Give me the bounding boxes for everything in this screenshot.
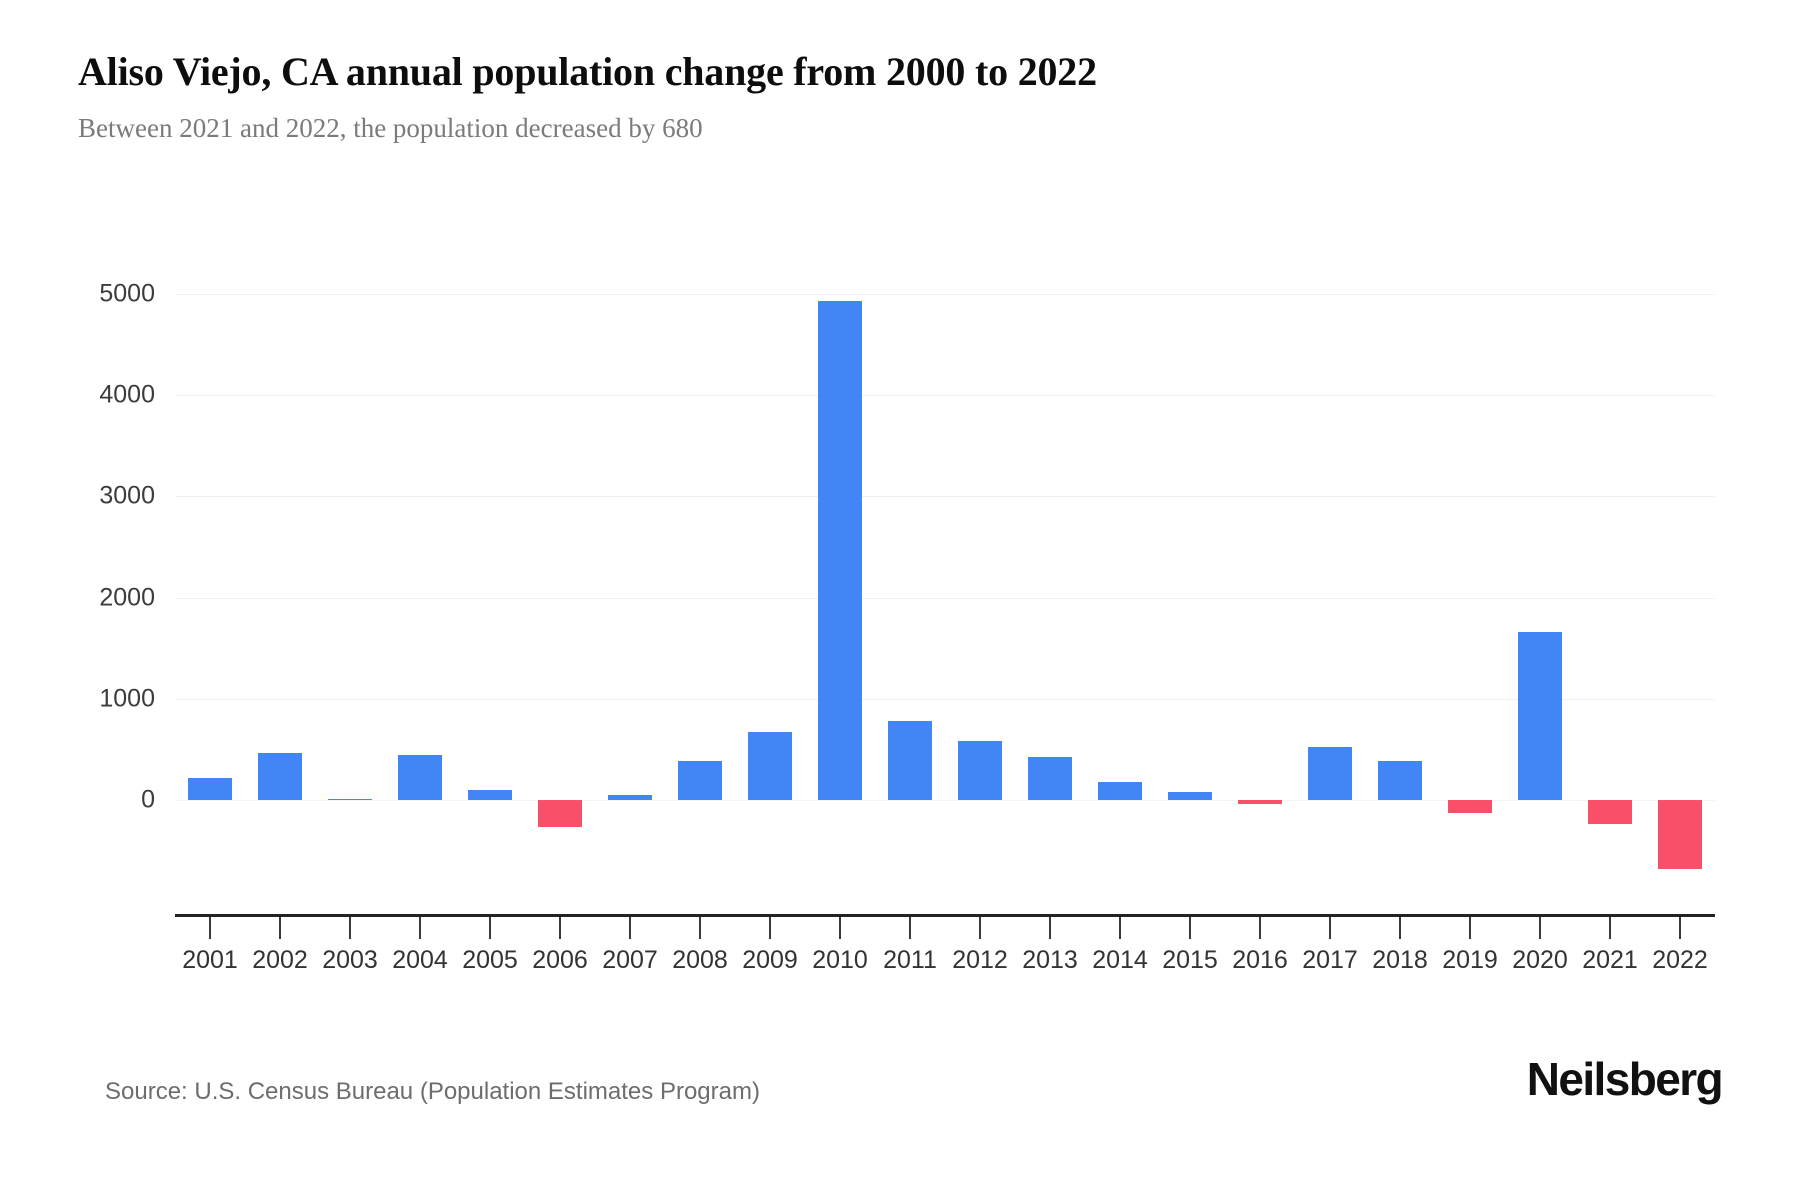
x-tick-2003	[349, 917, 351, 939]
bar-2022[interactable]	[1658, 800, 1703, 869]
x-tick-2011	[909, 917, 911, 939]
x-tick-2022	[1679, 917, 1681, 939]
x-tick-label-2019: 2019	[1442, 946, 1498, 975]
x-tick-2020	[1539, 917, 1541, 939]
x-tick-2016	[1259, 917, 1261, 939]
x-tick-2010	[839, 917, 841, 939]
gridline-0	[175, 800, 1715, 801]
x-tick-label-2014: 2014	[1092, 946, 1148, 975]
x-tick-label-2005: 2005	[462, 946, 518, 975]
x-tick-2001	[209, 917, 211, 939]
chart-page: Aliso Viejo, CA annual population change…	[0, 0, 1800, 1200]
x-tick-label-2013: 2013	[1022, 946, 1078, 975]
bar-2019[interactable]	[1448, 800, 1493, 813]
plot-area: 010002000300040005000 200120022003200420…	[0, 0, 1800, 1200]
x-tick-label-2016: 2016	[1232, 946, 1288, 975]
x-axis-line	[175, 914, 1715, 917]
x-tick-2019	[1469, 917, 1471, 939]
x-tick-2013	[1049, 917, 1051, 939]
x-tick-2021	[1609, 917, 1611, 939]
x-tick-2004	[419, 917, 421, 939]
y-tick-label-3000: 3000	[35, 482, 155, 511]
gridline-5000	[175, 294, 1715, 295]
bar-2006[interactable]	[538, 800, 583, 827]
x-tick-2018	[1399, 917, 1401, 939]
gridline-4000	[175, 395, 1715, 396]
x-tick-label-2021: 2021	[1582, 946, 1638, 975]
x-tick-2005	[489, 917, 491, 939]
x-tick-2008	[699, 917, 701, 939]
x-tick-label-2022: 2022	[1652, 946, 1708, 975]
x-tick-label-2017: 2017	[1302, 946, 1358, 975]
x-tick-label-2015: 2015	[1162, 946, 1218, 975]
source-note: Source: U.S. Census Bureau (Population E…	[105, 1078, 760, 1106]
x-tick-label-2018: 2018	[1372, 946, 1428, 975]
x-tick-label-2009: 2009	[742, 946, 798, 975]
x-tick-2017	[1329, 917, 1331, 939]
x-tick-label-2012: 2012	[952, 946, 1008, 975]
x-tick-label-2010: 2010	[812, 946, 868, 975]
x-tick-label-2001: 2001	[182, 946, 238, 975]
x-tick-label-2008: 2008	[672, 946, 728, 975]
y-tick-label-4000: 4000	[35, 381, 155, 410]
gridline-3000	[175, 496, 1715, 497]
brand-logo: Neilsberg	[1527, 1052, 1722, 1106]
x-tick-label-2007: 2007	[602, 946, 658, 975]
x-tick-2009	[769, 917, 771, 939]
y-tick-label-1000: 1000	[35, 684, 155, 713]
gridline-1000	[175, 699, 1715, 700]
gridlines	[175, 294, 1715, 800]
bar-2021[interactable]	[1588, 800, 1633, 824]
x-tick-2006	[559, 917, 561, 939]
x-tick-label-2004: 2004	[392, 946, 448, 975]
x-tick-2015	[1189, 917, 1191, 939]
x-tick-label-2002: 2002	[252, 946, 308, 975]
x-tick-2007	[629, 917, 631, 939]
y-tick-label-5000: 5000	[35, 280, 155, 309]
x-tick-2012	[979, 917, 981, 939]
y-tick-label-2000: 2000	[35, 583, 155, 612]
y-tick-label-0: 0	[35, 786, 155, 815]
x-tick-2002	[279, 917, 281, 939]
x-tick-label-2020: 2020	[1512, 946, 1568, 975]
x-tick-label-2011: 2011	[883, 946, 937, 975]
x-tick-2014	[1119, 917, 1121, 939]
gridline-2000	[175, 598, 1715, 599]
x-tick-label-2003: 2003	[322, 946, 378, 975]
x-tick-label-2006: 2006	[532, 946, 588, 975]
